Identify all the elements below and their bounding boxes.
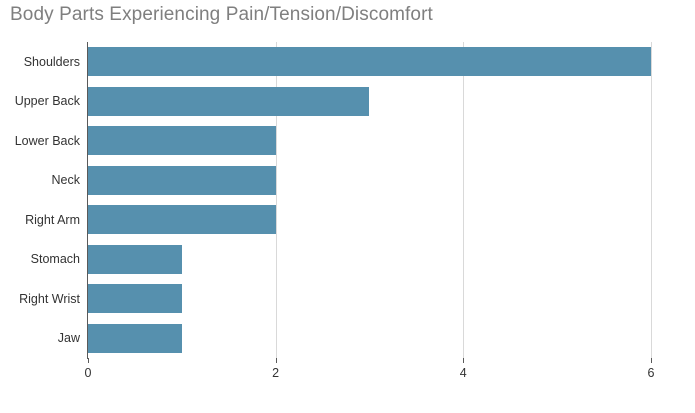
bar-lower-back[interactable] xyxy=(88,126,276,155)
bar-jaw[interactable] xyxy=(88,324,182,353)
bar-band xyxy=(88,279,665,319)
bar-band xyxy=(88,121,665,161)
bar-band xyxy=(88,161,665,201)
x-tick-mark-0 xyxy=(88,358,89,363)
bar-chart-figure: Body Parts Experiencing Pain/Tension/Dis… xyxy=(0,0,695,413)
y-tick-label-right-arm: Right Arm xyxy=(2,213,80,227)
bar-band xyxy=(88,82,665,122)
chart-title: Body Parts Experiencing Pain/Tension/Dis… xyxy=(10,3,433,27)
bar-shoulders[interactable] xyxy=(88,47,651,76)
x-axis-ticks: 0246 xyxy=(88,358,665,398)
x-tick-label-0: 0 xyxy=(85,366,92,381)
bar-band xyxy=(88,42,665,82)
y-tick-label-stomach: Stomach xyxy=(2,252,80,266)
y-tick-label-upper-back: Upper Back xyxy=(2,94,80,108)
bar-stomach[interactable] xyxy=(88,245,182,274)
bar-neck[interactable] xyxy=(88,166,276,195)
bar-upper-back[interactable] xyxy=(88,87,369,116)
y-tick-label-neck: Neck xyxy=(2,173,80,187)
bar-band xyxy=(88,240,665,280)
y-axis-spine xyxy=(87,42,88,359)
y-axis-tick-labels: ShouldersUpper BackLower BackNeckRight A… xyxy=(0,42,80,358)
x-tick-label-4: 4 xyxy=(460,366,467,381)
y-tick-label-shoulders: Shoulders xyxy=(2,55,80,69)
x-tick-mark-4 xyxy=(463,358,464,363)
y-tick-label-right-wrist: Right Wrist xyxy=(2,292,80,306)
x-tick-mark-6 xyxy=(651,358,652,363)
x-tick-label-6: 6 xyxy=(647,366,654,381)
bar-band xyxy=(88,200,665,240)
x-tick-mark-2 xyxy=(276,358,277,363)
plot-area xyxy=(88,42,665,358)
bar-band xyxy=(88,319,665,359)
y-tick-label-lower-back: Lower Back xyxy=(2,134,80,148)
x-tick-label-2: 2 xyxy=(272,366,279,381)
bar-right-arm[interactable] xyxy=(88,205,276,234)
bar-right-wrist[interactable] xyxy=(88,284,182,313)
y-tick-label-jaw: Jaw xyxy=(2,331,80,345)
